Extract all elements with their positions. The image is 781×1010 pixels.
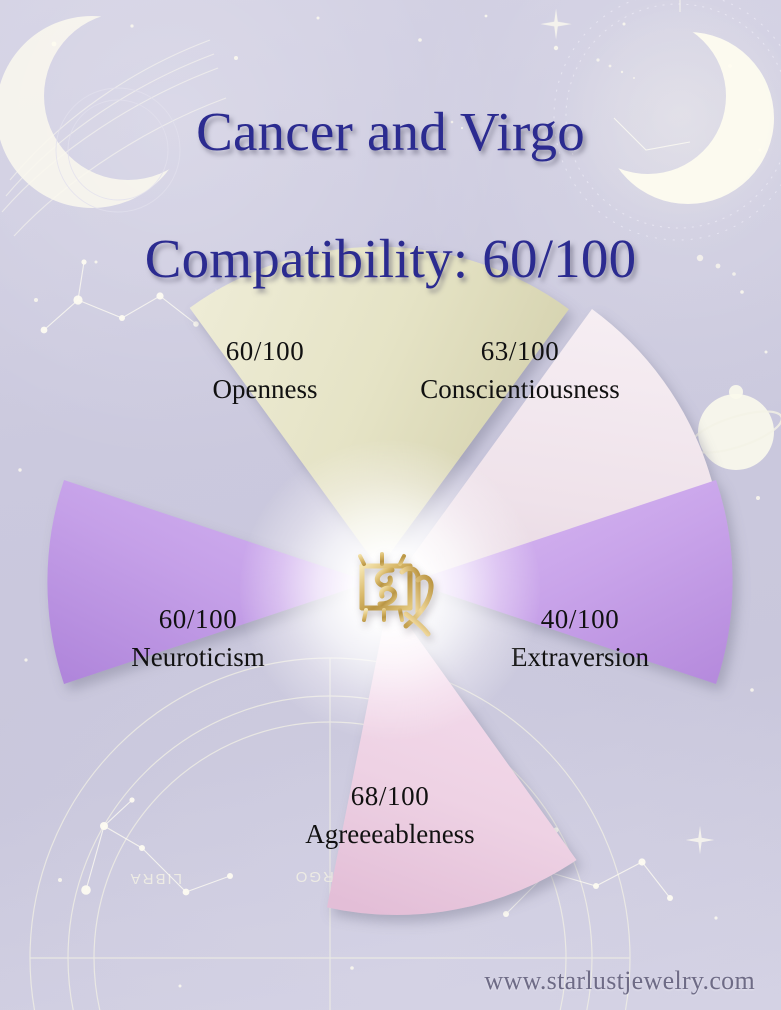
pie-slice-neuroticism[interactable] (47, 480, 370, 684)
title-line-2: Compatibility: 60/100 (0, 227, 781, 291)
infographic-canvas: LIBRA VIRGO (0, 0, 781, 1010)
cancer-virgo-zodiac-charm-icon (340, 540, 440, 644)
website-url[interactable]: www.starlustjewelry.com (484, 966, 755, 996)
title-line-1: Cancer and Virgo (0, 100, 781, 164)
page-title: Cancer and Virgo Compatibility: 60/100 (0, 36, 781, 355)
